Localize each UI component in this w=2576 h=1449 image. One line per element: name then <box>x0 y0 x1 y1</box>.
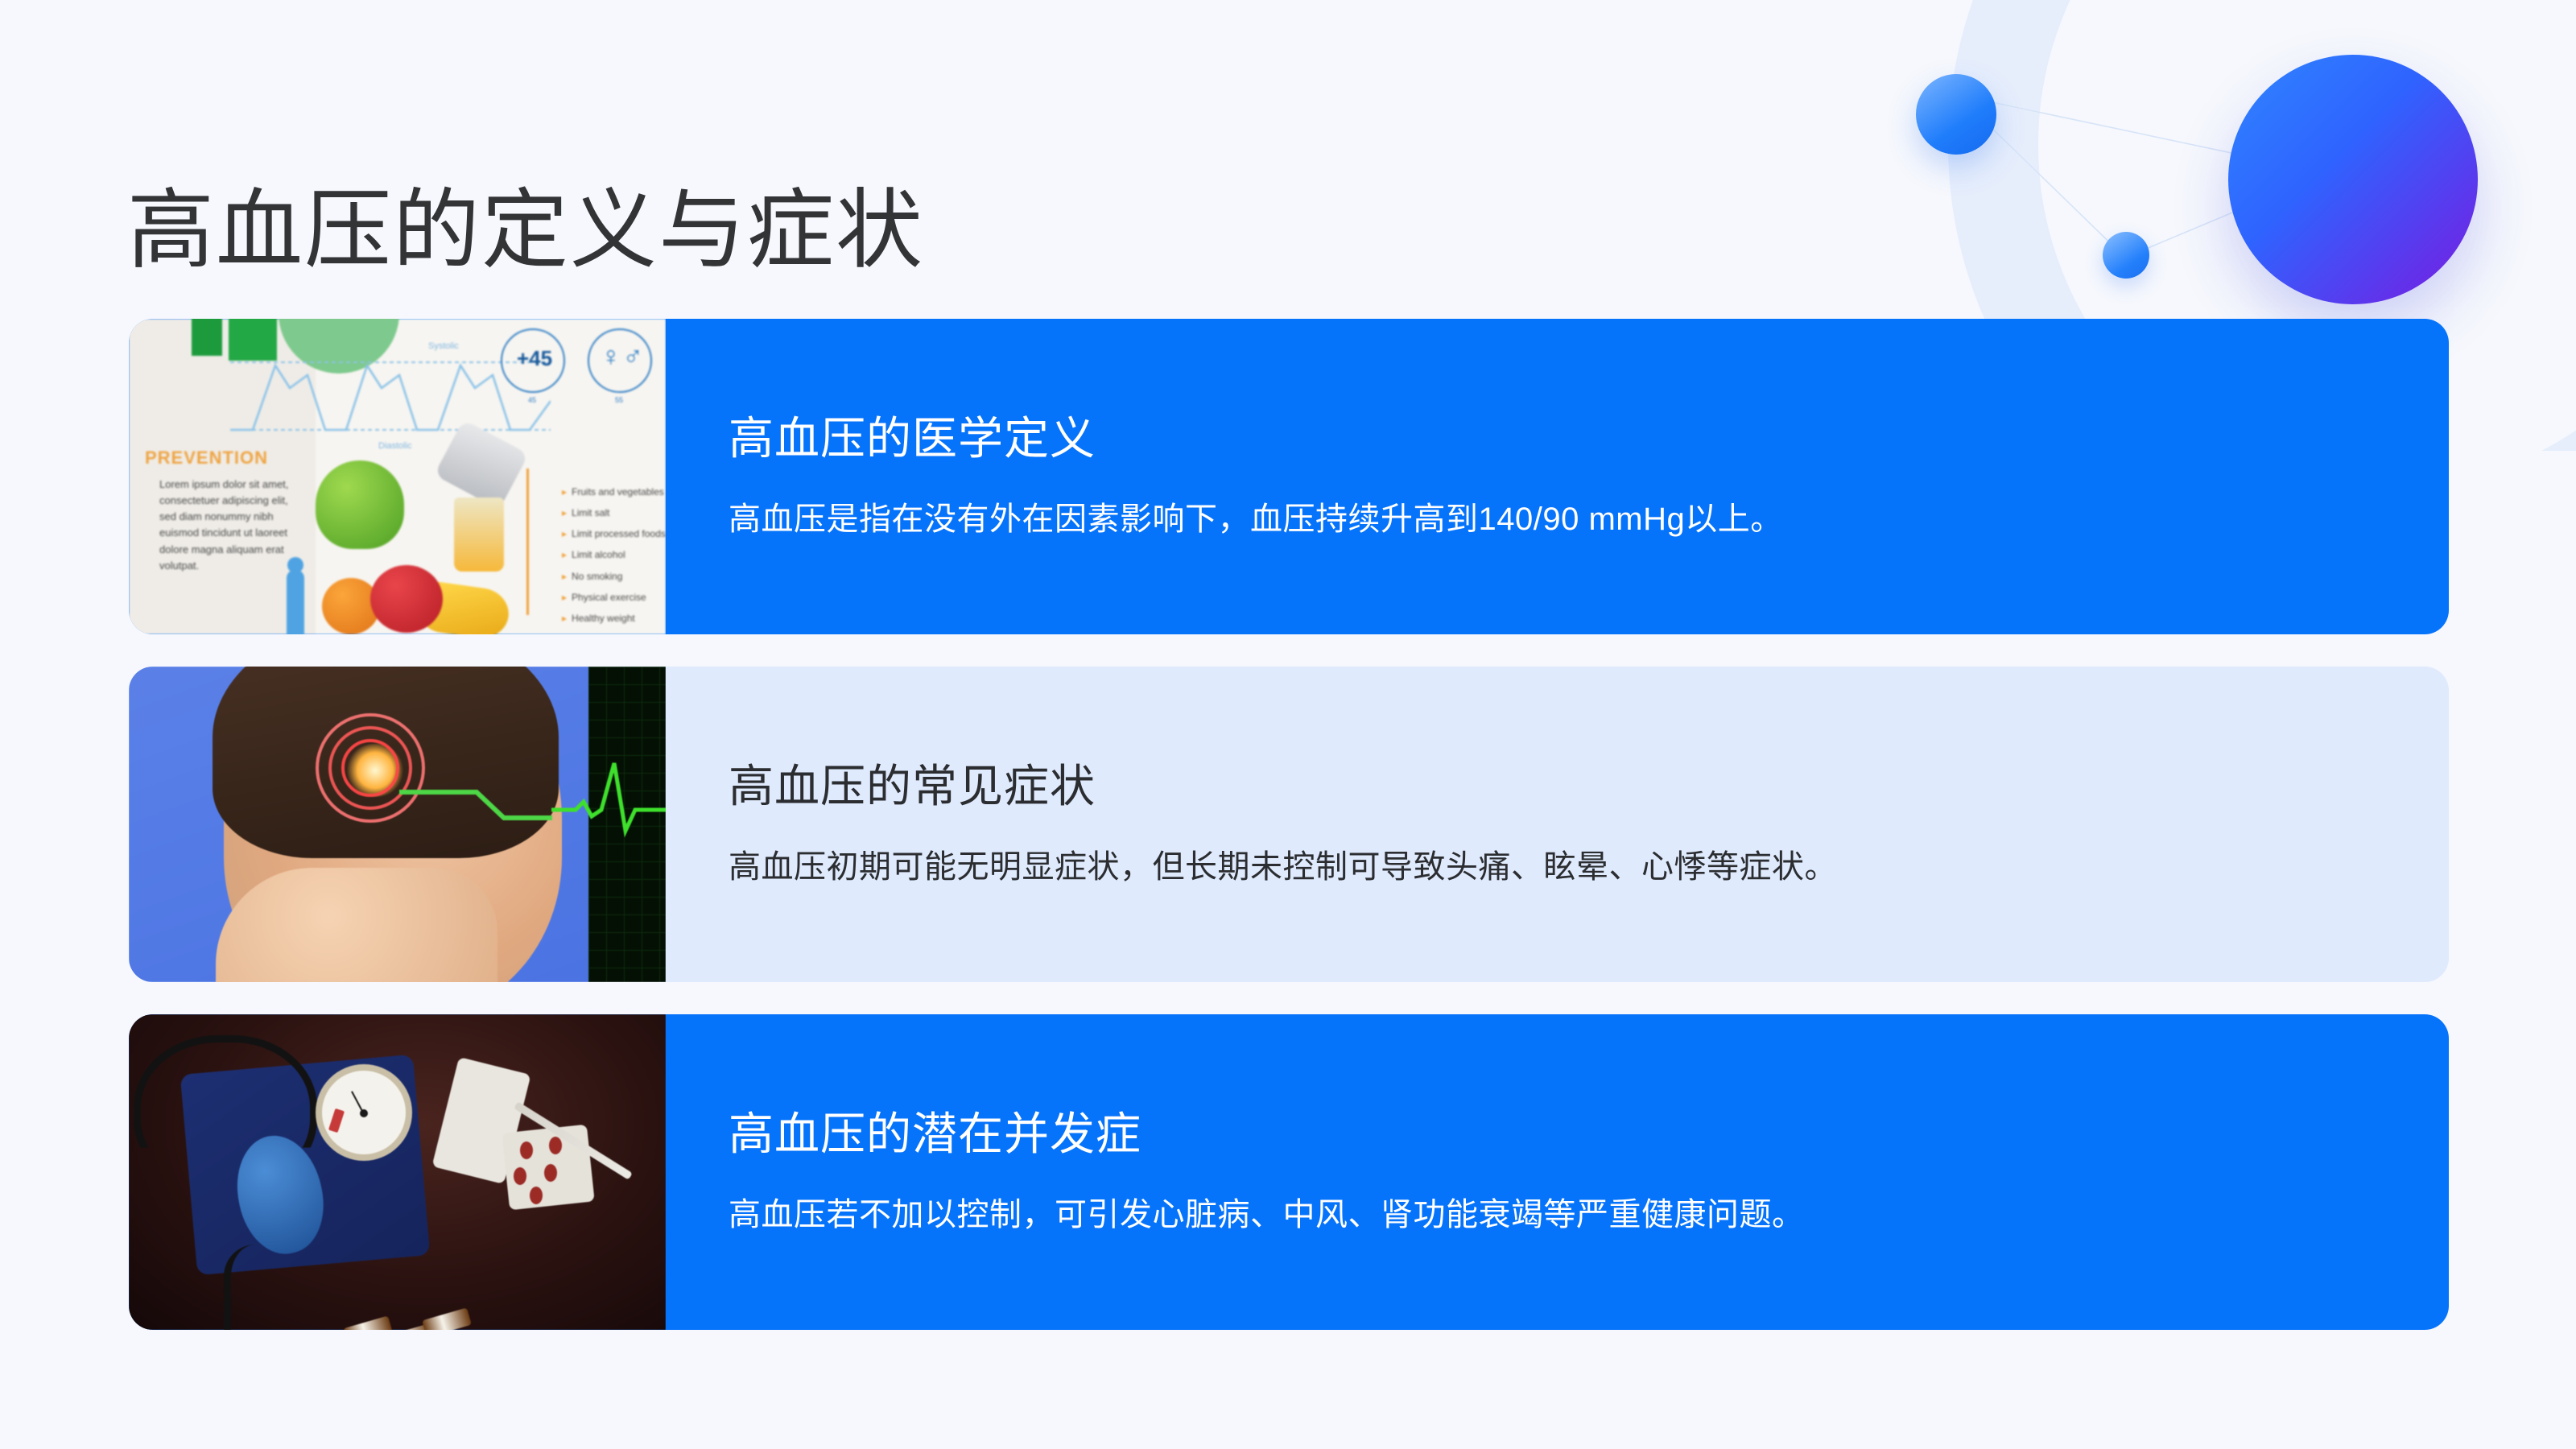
list-item: No smoking <box>562 566 666 587</box>
card-body: 高血压的医学定义 高血压是指在没有外在因素影响下，血压持续升高到140/90 m… <box>666 319 2449 634</box>
small-blue-sphere <box>2103 232 2149 279</box>
card-potential-complications[interactable]: 高血压的潜在并发症 高血压若不加以控制，可引发心脏病、中风、肾功能衰竭等严重健康… <box>129 1014 2449 1330</box>
large-gradient-sphere <box>2228 55 2478 304</box>
list-item: Limit salt <box>562 502 666 523</box>
card-description: 高血压若不加以控制，可引发心脏病、中风、肾功能衰竭等严重健康问题。 <box>729 1191 2391 1238</box>
card-thumbnail-bp-monitor-photo <box>129 1014 666 1330</box>
thumb-diastolic-label: Diastolic <box>378 441 412 451</box>
gender-symbols-icon: ♀♂ <box>601 341 645 373</box>
thumb-badge-number: +45 <box>517 346 552 371</box>
card-heading: 高血压的医学定义 <box>729 411 2391 467</box>
medium-blue-sphere <box>1916 74 1996 155</box>
thumb-tips-list: Fruits and vegetables Limit salt Limit p… <box>530 481 666 629</box>
list-item: Limit alcohol <box>562 544 666 565</box>
ecg-monitor-panel <box>588 667 666 982</box>
card-heading: 高血压的常见症状 <box>729 758 2391 815</box>
thumb-badge-sub-right: 55 <box>615 396 623 404</box>
card-thumbnail-headache-photo <box>129 667 666 982</box>
ecg-waveform-icon <box>551 753 666 842</box>
list-item: Physical exercise <box>562 587 666 608</box>
page-title: 高血压的定义与症状 <box>127 179 924 281</box>
list-item: Healthy weight <box>562 608 666 629</box>
list-item: Limit processed foods <box>562 523 666 544</box>
card-common-symptoms[interactable]: 高血压的常见症状 高血压初期可能无明显症状，但长期未控制可导致头痛、眩晕、心悸等… <box>129 667 2449 982</box>
card-medical-definition[interactable]: Systolic Diastolic +45 ♀♂ 45 55 PREVENTI… <box>129 319 2449 634</box>
pulse-lead-line-icon <box>399 786 552 824</box>
thumb-lorem-text: Lorem ipsum dolor sit amet, consectetuer… <box>159 477 304 574</box>
thumb-systolic-label: Systolic <box>428 341 459 351</box>
card-body: 高血压的常见症状 高血压初期可能无明显症状，但长期未控制可导致头痛、眩晕、心悸等… <box>666 667 2449 982</box>
card-heading: 高血压的潜在并发症 <box>729 1106 2391 1162</box>
card-list: Systolic Diastolic +45 ♀♂ 45 55 PREVENTI… <box>129 319 2449 1362</box>
card-thumbnail-prevention-infographic: Systolic Diastolic +45 ♀♂ 45 55 PREVENTI… <box>129 319 666 634</box>
card-body: 高血压的潜在并发症 高血压若不加以控制，可引发心脏病、中风、肾功能衰竭等严重健康… <box>666 1014 2449 1330</box>
list-item: Fruits and vegetables <box>562 481 666 502</box>
card-description: 高血压是指在没有外在因素影响下，血压持续升高到140/90 mmHg以上。 <box>729 496 2391 543</box>
thumb-prevention-label: PREVENTION <box>145 448 268 469</box>
thumb-badge-sub-left: 45 <box>528 396 536 404</box>
card-description: 高血压初期可能无明显症状，但长期未控制可导致头痛、眩晕、心悸等症状。 <box>729 844 2391 890</box>
